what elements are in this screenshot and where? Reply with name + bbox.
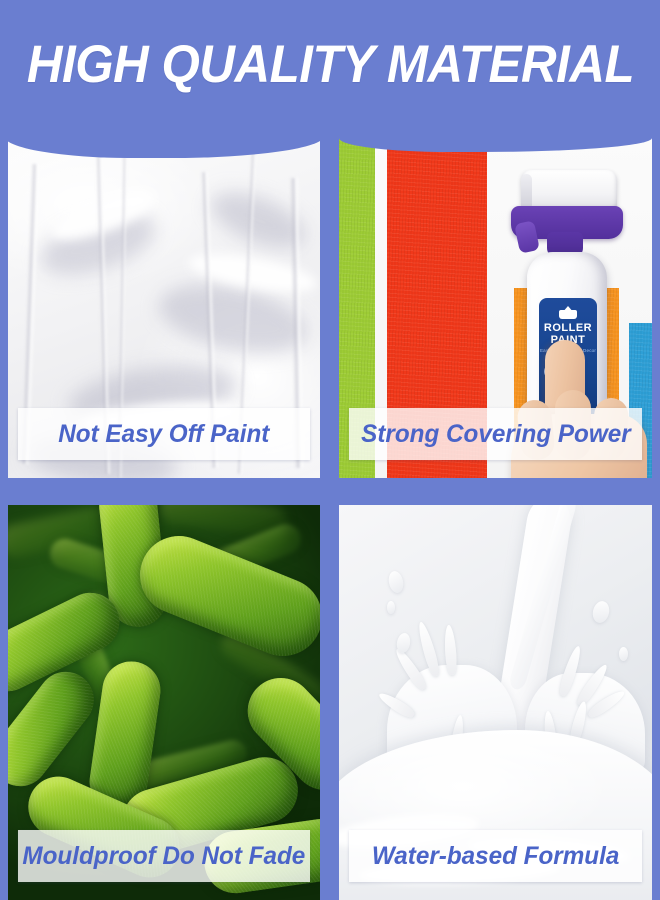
caption-text: Not Easy Off Paint <box>58 422 269 447</box>
panel-water-based: Water-based Formula <box>339 505 652 900</box>
caption-band-strong-covering-power: Strong Covering Power <box>349 408 642 460</box>
milk-droplet <box>387 570 405 594</box>
caption-text: Water-based Formula <box>372 844 620 869</box>
milk-droplet <box>591 599 612 624</box>
caption-text: Mouldproof Do Not Fade <box>23 844 306 869</box>
wall-top-edge <box>339 138 652 152</box>
brand-logo-icon <box>559 306 577 319</box>
milk-droplet <box>387 601 395 614</box>
milk-droplet <box>619 647 628 661</box>
panel-mouldproof: Mouldproof Do Not Fade <box>8 505 320 900</box>
panel-covering-power: ROLLER PAINT Easy To Use Home Decor L <box>339 138 652 478</box>
splash-spike <box>415 621 441 678</box>
caption-band-mouldproof: Mouldproof Do Not Fade <box>18 830 310 882</box>
roller-yoke-arm <box>514 220 540 254</box>
header-banner: HIGH QUALITY MATERIAL <box>0 0 660 128</box>
page-title: HIGH QUALITY MATERIAL <box>26 38 633 91</box>
caption-text: Strong Covering Power <box>361 422 630 447</box>
product-infographic: HIGH QUALITY MATERIAL Not Easy Off Paint <box>0 0 660 900</box>
caption-band-water-based: Water-based Formula <box>349 830 642 882</box>
milk-droplet <box>395 632 411 654</box>
panel-paint-texture: Not Easy Off Paint <box>8 138 320 478</box>
bottle-label-line1: ROLLER <box>544 322 592 334</box>
caption-band-not-easy-off-paint: Not Easy Off Paint <box>18 408 310 460</box>
